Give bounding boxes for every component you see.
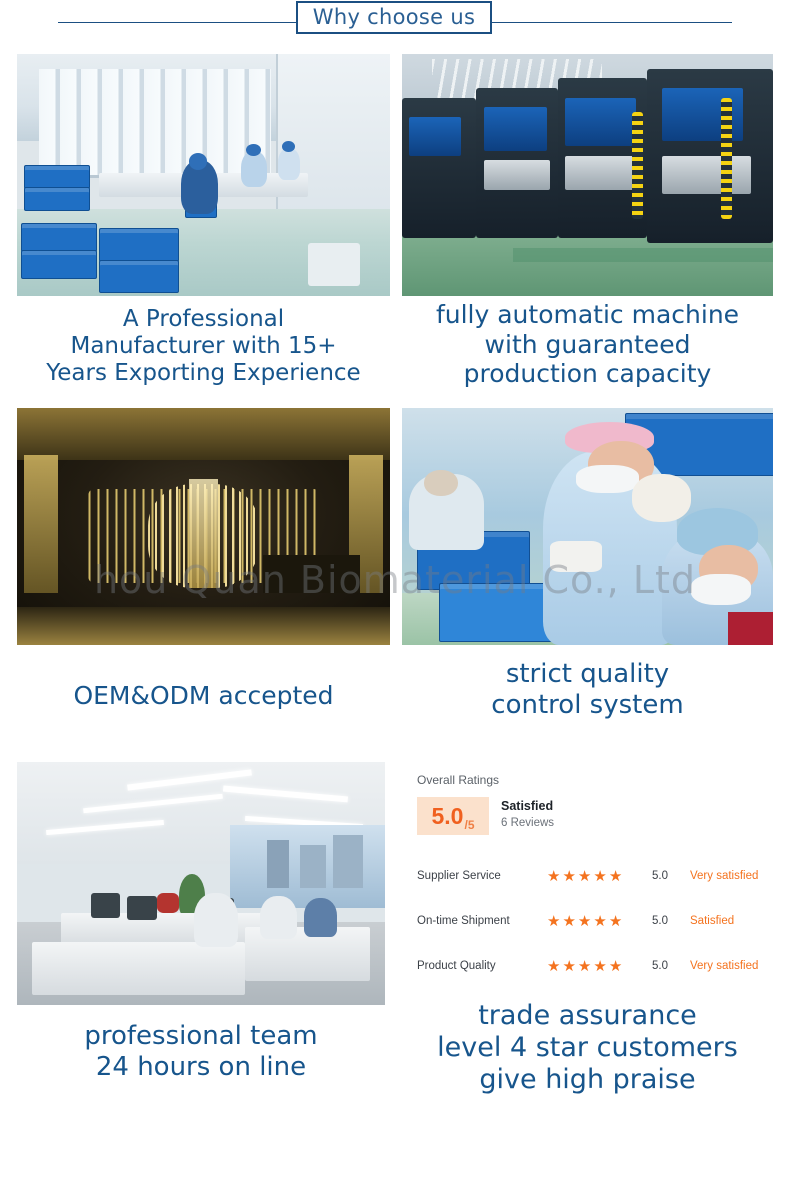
caption-trade-assurance: trade assurance level 4 star customers g… [402, 1000, 773, 1096]
caption-oem-odm: OEM&ODM accepted [17, 681, 390, 711]
section-header: Why choose us [0, 0, 790, 44]
rating-row-text: Very satisfied [690, 960, 758, 972]
ratings-score-badge: 5.0 /5 [417, 797, 489, 835]
ratings-review-count: 6 Reviews [501, 817, 554, 829]
factory-assembly-hall-photo [17, 54, 390, 296]
overall-ratings-panel: Overall Ratings 5.0 /5 Satisfied 6 Revie… [400, 755, 780, 1005]
rating-row-value: 5.0 [652, 915, 690, 927]
caption-quality-control: strict quality control system [402, 659, 773, 720]
rating-row-value: 5.0 [652, 960, 690, 972]
rating-row-label: Product Quality [417, 960, 547, 972]
table-row: Product Quality ★★★★★ 5.0 Very satisfied [417, 953, 765, 979]
ratings-score: 5.0 [432, 805, 464, 828]
header-rule-left [58, 22, 298, 23]
gold-mould-cavity-photo [17, 408, 390, 645]
rating-stars-icon: ★★★★★ [547, 959, 652, 974]
open-plan-office-photo [17, 762, 385, 1005]
caption-automatic-machine: fully automatic machine with guaranteed … [402, 300, 773, 389]
table-row: On-time Shipment ★★★★★ 5.0 Satisfied [417, 908, 765, 934]
rating-stars-icon: ★★★★★ [547, 914, 652, 929]
caption-professional-manufacturer: A Professional Manufacturer with 15+ Yea… [17, 306, 390, 387]
rating-stars-icon: ★★★★★ [547, 869, 652, 884]
rating-row-text: Very satisfied [690, 870, 758, 882]
why-choose-us-page: Why choose us [0, 0, 790, 1181]
rating-row-label: On-time Shipment [417, 915, 547, 927]
rating-row-text: Satisfied [690, 915, 734, 927]
page-title: Why choose us [313, 7, 475, 28]
header-rule-right [492, 22, 732, 23]
ratings-title: Overall Ratings [417, 773, 499, 787]
ratings-out-of: /5 [464, 818, 474, 832]
header-title-box: Why choose us [296, 1, 492, 34]
ratings-summary: Satisfied [501, 799, 553, 813]
injection-moulding-machines-photo [402, 54, 773, 296]
table-row: Supplier Service ★★★★★ 5.0 Very satisfie… [417, 863, 765, 889]
rating-row-value: 5.0 [652, 870, 690, 882]
workers-inspection-photo [402, 408, 773, 645]
rating-row-label: Supplier Service [417, 870, 547, 882]
caption-professional-team: professional team 24 hours on line [17, 1021, 385, 1082]
